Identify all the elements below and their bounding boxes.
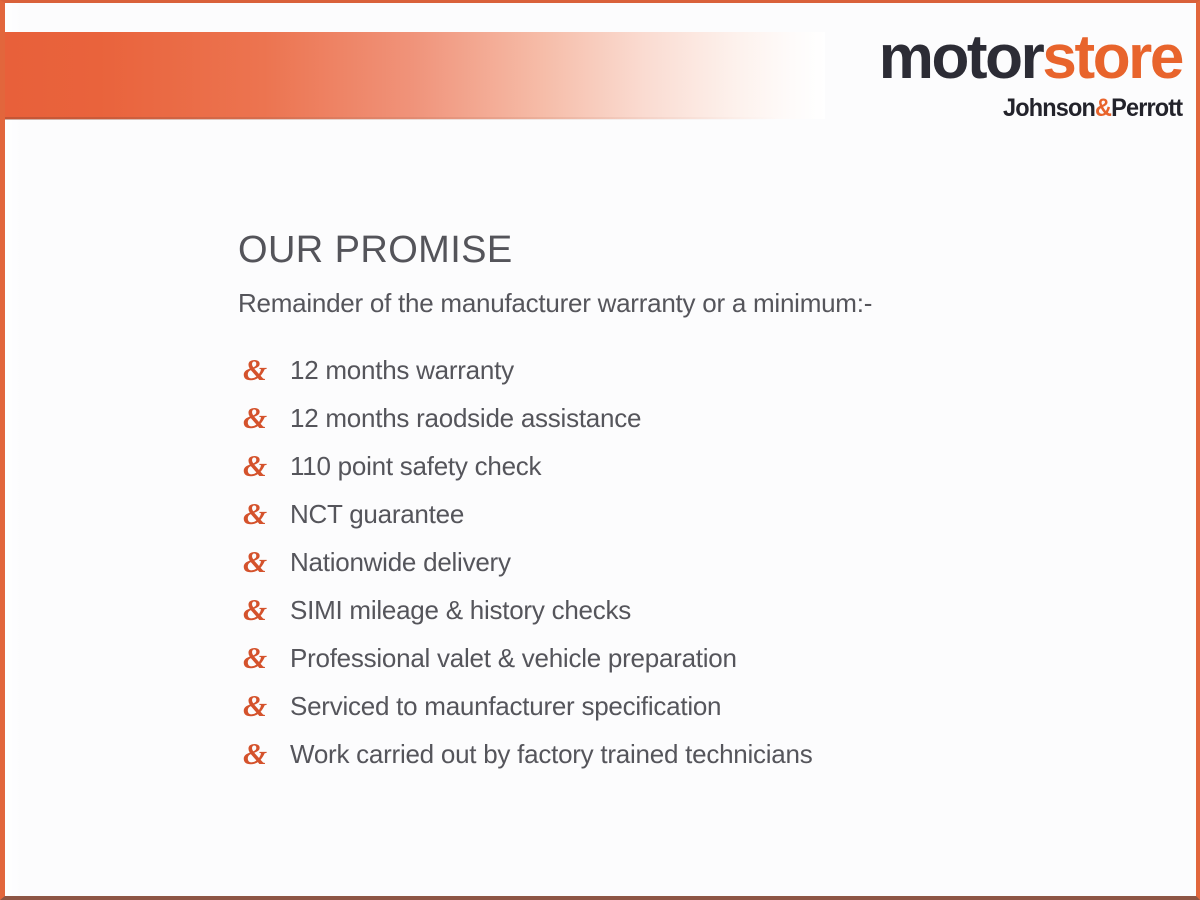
ampersand-bullet-icon: &	[238, 346, 290, 394]
page-subtitle: Remainder of the manufacturer warranty o…	[238, 286, 1138, 320]
list-item: & 12 months warranty	[238, 346, 1138, 394]
list-item-label: 12 months warranty	[290, 346, 514, 394]
ampersand-bullet-icon: &	[238, 634, 290, 682]
logo-sub-johnson: Johnson	[1003, 94, 1095, 122]
header: motorstore Johnson&Perrott	[5, 3, 1196, 133]
ampersand-bullet-icon: &	[238, 490, 290, 538]
list-item-label: Serviced to maunfacturer specification	[290, 682, 721, 730]
list-item: & Work carried out by factory trained te…	[238, 730, 1138, 778]
logo-sub-ampersand-icon: &	[1095, 94, 1111, 122]
list-item-label: Professional valet & vehicle preparation	[290, 634, 737, 682]
ampersand-bullet-icon: &	[238, 442, 290, 490]
logo-sub-perrott: Perrott	[1111, 94, 1182, 122]
list-item: & SIMI mileage & history checks	[238, 586, 1138, 634]
list-item: & Professional valet & vehicle preparati…	[238, 634, 1138, 682]
logo-wordmark: motorstore	[879, 27, 1182, 89]
ampersand-bullet-icon: &	[238, 730, 290, 778]
page-title: OUR PROMISE	[238, 228, 1138, 272]
banner-shadow	[0, 117, 780, 120]
promise-slide: motorstore Johnson&Perrott OUR PROMISE R…	[0, 0, 1200, 900]
logo-subtitle: Johnson&Perrott	[897, 95, 1182, 121]
ampersand-bullet-icon: &	[238, 538, 290, 586]
list-item-label: 12 months raodside assistance	[290, 394, 641, 442]
list-item: & Nationwide delivery	[238, 538, 1138, 586]
list-item-label: NCT guarantee	[290, 490, 464, 538]
ampersand-bullet-icon: &	[238, 394, 290, 442]
list-item-label: SIMI mileage & history checks	[290, 586, 631, 634]
left-edge-highlight	[5, 3, 23, 896]
list-item-label: Work carried out by factory trained tech…	[290, 730, 812, 778]
promise-list: & 12 months warranty & 12 months raodsid…	[238, 346, 1138, 778]
orange-gradient-banner	[0, 32, 825, 119]
list-item-label: Nationwide delivery	[290, 538, 511, 586]
list-item: & 12 months raodside assistance	[238, 394, 1138, 442]
list-item: & NCT guarantee	[238, 490, 1138, 538]
ampersand-bullet-icon: &	[238, 682, 290, 730]
brand-logo: motorstore Johnson&Perrott	[879, 27, 1182, 121]
logo-store-text: store	[1042, 23, 1182, 92]
main-content: OUR PROMISE Remainder of the manufacture…	[238, 228, 1138, 778]
list-item: & 110 point safety check	[238, 442, 1138, 490]
list-item: & Serviced to maunfacturer specification	[238, 682, 1138, 730]
logo-motor-text: motor	[879, 23, 1043, 92]
list-item-label: 110 point safety check	[290, 442, 541, 490]
ampersand-bullet-icon: &	[238, 586, 290, 634]
